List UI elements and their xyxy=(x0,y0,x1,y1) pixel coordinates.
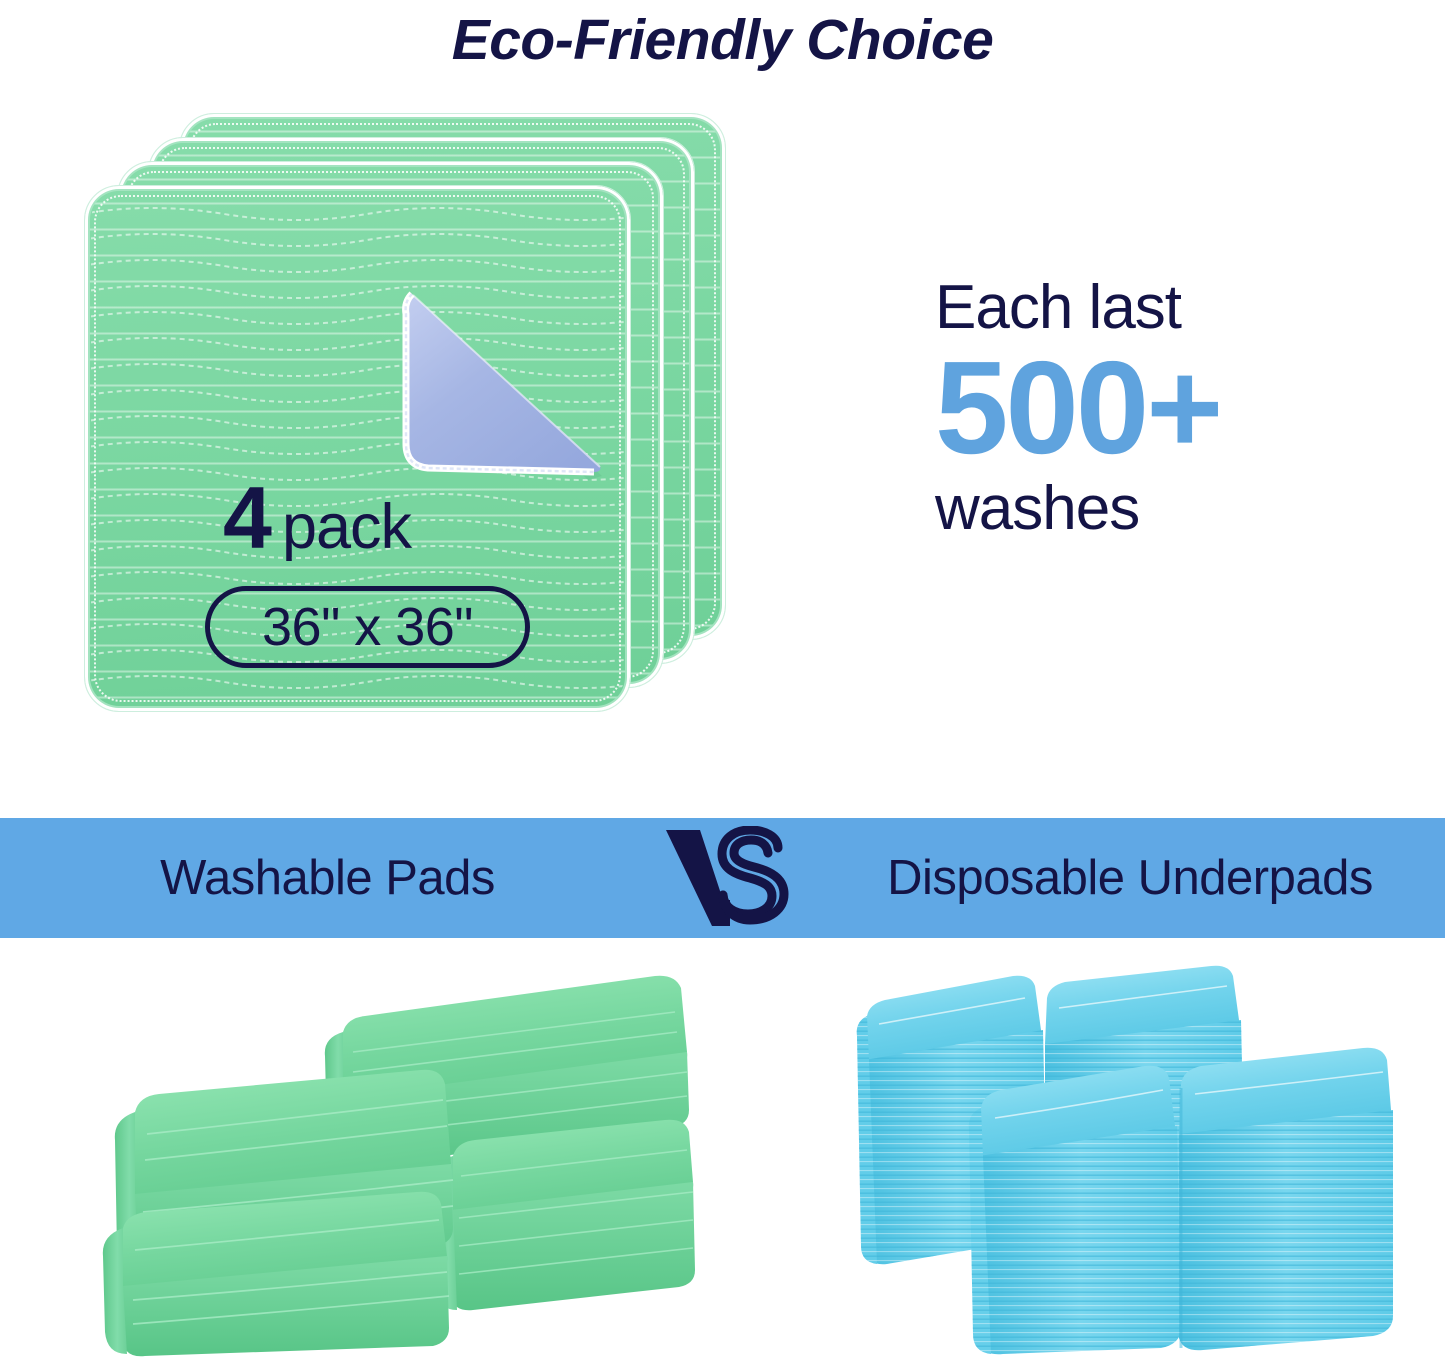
pack-count-number: 4 xyxy=(223,476,270,560)
pack-count-label: 4 pack xyxy=(223,476,411,560)
disposable-underpads-image xyxy=(855,960,1395,1360)
vs-icon xyxy=(655,818,815,938)
claim-highlight-number: 500+ xyxy=(935,342,1365,474)
page-title: Eco-Friendly Choice xyxy=(0,0,1445,80)
claim-line-2: washes xyxy=(935,476,1365,541)
stacked-pads-illustration: 4 pack 36" x 36" xyxy=(85,114,725,744)
claim-line-1: Each last xyxy=(935,275,1365,340)
size-badge: 36" x 36" xyxy=(205,586,530,668)
pack-count-word: pack xyxy=(282,496,411,559)
folded-washable-pads-image xyxy=(95,960,715,1360)
washes-claim: Each last 500+ washes xyxy=(935,275,1365,541)
product-highlight-section: 4 pack 36" x 36" Each last 500+ washes xyxy=(0,80,1445,818)
comparison-banner: Washable Pads Disposable Underpads xyxy=(0,818,1445,938)
comparison-images-section xyxy=(0,938,1445,1369)
pad-sheet-front: 4 pack 36" x 36" xyxy=(85,186,630,711)
comparison-right-label: Disposable Underpads xyxy=(815,818,1445,938)
comparison-left-label: Washable Pads xyxy=(0,818,655,938)
folded-corner-backing xyxy=(402,290,607,485)
